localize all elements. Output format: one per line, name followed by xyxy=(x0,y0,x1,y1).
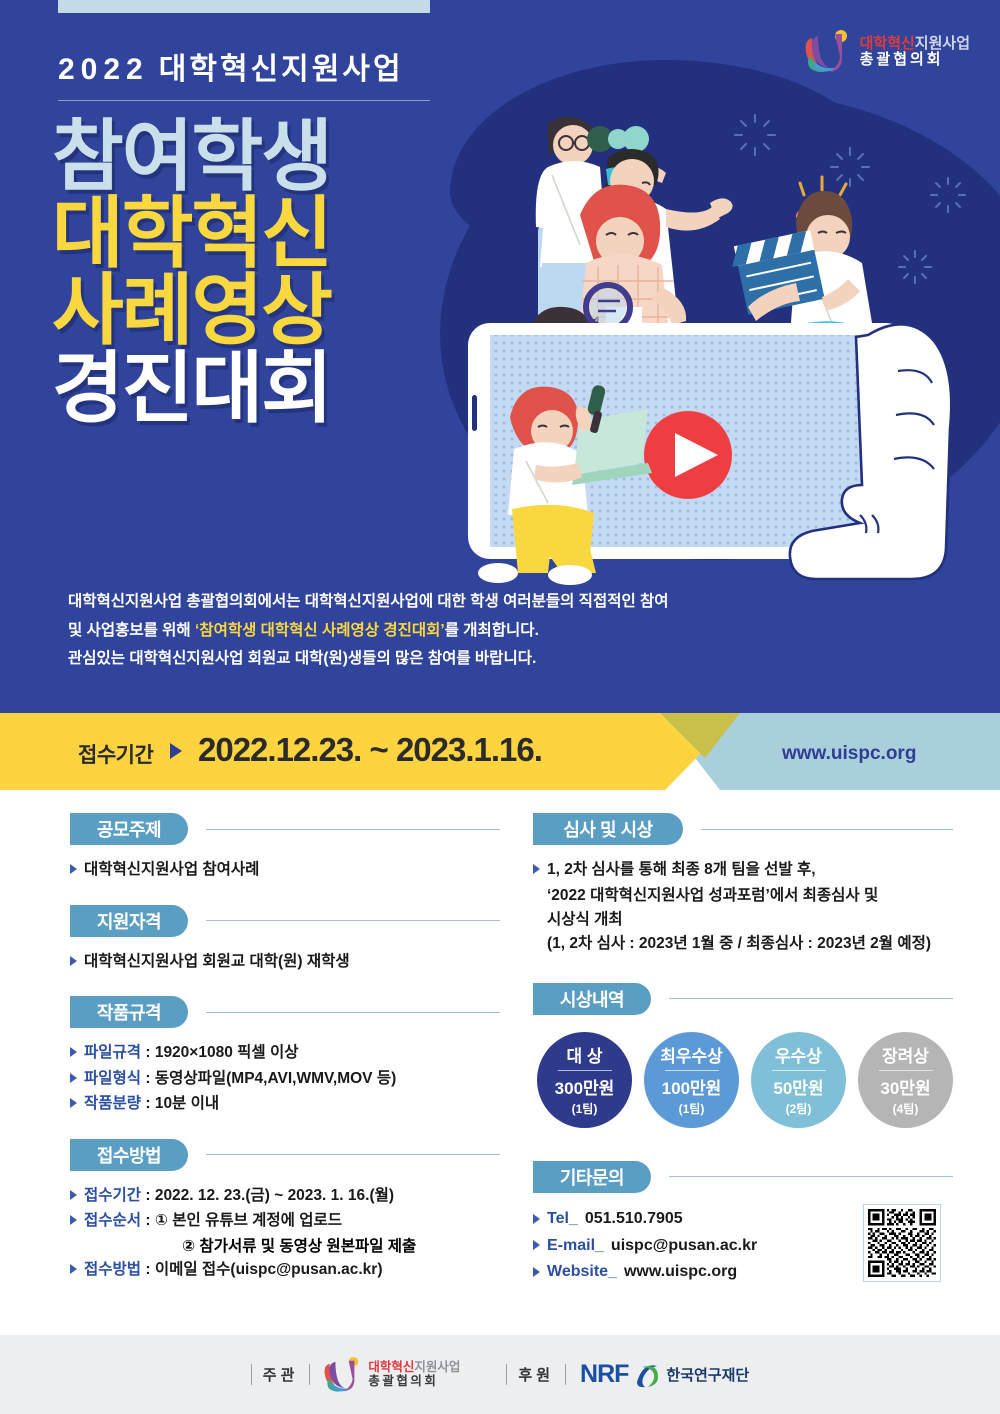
banner-label: 접수기간 xyxy=(78,739,153,769)
section-submission: 접수방법 접수기간 : 2022. 12. 23.(금) ~ 2023. 1. … xyxy=(70,1138,500,1282)
nrf-swoosh-icon xyxy=(634,1362,660,1388)
desc-line-3: 관심있는 대학혁신지원사업 회원교 대학(원)생들의 많은 참여를 바랍니다. xyxy=(68,645,808,674)
hero-section: 대학혁신지원사업 총괄협의회 2022대학혁신지원사업 참여학생 대학혁신 사례… xyxy=(0,0,1000,713)
banner-website-url[interactable]: www.uispc.org xyxy=(782,743,916,765)
section-judging-rule xyxy=(701,829,953,830)
logo-line1-gray: 지원사업 xyxy=(915,35,970,52)
prize-name-1: 최우수상 xyxy=(660,1042,723,1067)
section-spec-rule xyxy=(206,1012,500,1013)
judging-line-4-b: : 2023년 1월 중 / xyxy=(625,935,746,952)
desc-line-2-pre: 및 사업홍보를 위해 xyxy=(68,622,195,639)
prize-teams-2: (2팀) xyxy=(786,1100,812,1117)
footer-sponsor: 후원 NRF 한국연구재단 xyxy=(506,1360,749,1389)
bullet-triangle-icon xyxy=(70,1215,77,1225)
eyebrow-program: 대학혁신지원사업 xyxy=(159,53,404,86)
prize-circle-list: 대 상 300만원 (1팀) 최우수상 100만원 (1팀) 우수상 xyxy=(533,1032,953,1128)
judging-line-4-d: : 2023년 2월 예정) xyxy=(803,935,931,952)
section-spec: 작품규격 파일규격 : 1920×1080 픽셀 이상 파일형식 : 동영상파일… xyxy=(70,995,500,1116)
bullet-triangle-icon xyxy=(70,956,77,966)
contact-key-0: Tel_ xyxy=(547,1206,578,1232)
right-column: 심사 및 시상 1, 2차 심사를 통해 최종 8개 팀을 선발 후, ‘202… xyxy=(533,812,953,1307)
page-title: 참여학생 대학혁신 사례영상 경진대회 xyxy=(52,118,331,427)
judging-line-3: 시상식 개최 xyxy=(533,908,953,932)
spec-value-1: : 동영상파일(MP4,AVI,WMV,MOV 등) xyxy=(141,1070,396,1087)
hero-illustration xyxy=(430,85,1000,605)
prize-circle-excellent: 우수상 50만원 (2팀) xyxy=(751,1032,846,1128)
section-eligibility-rule xyxy=(206,920,500,921)
left-column: 공모주제 대학혁신지원사업 참여사례 지원자격 xyxy=(70,812,500,1304)
uispc-logo-icon xyxy=(804,28,852,76)
qr-code[interactable] xyxy=(863,1204,941,1282)
logo-line2: 총괄협의회 xyxy=(860,52,970,68)
spec-label-1: 파일형식 xyxy=(84,1070,141,1087)
section-contact: 기타문의 Tel_ 051.510.7905 E-mail_ uispc@pus… xyxy=(533,1160,953,1286)
logo-line1-red: 대학혁신 xyxy=(860,35,915,52)
submission-period-value: : 2022. 12. 23.(금) ~ 2023. 1. 16.(월) xyxy=(141,1187,394,1204)
prize-amount-0: 300만원 xyxy=(555,1074,615,1099)
prize-name-3: 장려상 xyxy=(882,1042,929,1067)
nrf-korean-name: 한국연구재단 xyxy=(666,1364,749,1385)
contact-value-1[interactable]: uispc@pusan.ac.kr xyxy=(611,1233,757,1259)
list-item: 대학혁신지원사업 회원교 대학(원) 재학생 xyxy=(70,950,500,974)
bullet-triangle-icon xyxy=(70,1047,77,1057)
submission-order-value2: ② 참가서류 및 동영상 원본파일 제출 xyxy=(70,1235,500,1259)
footer-organizer-logo: 대학혁신지원사업 총괄협의회 xyxy=(324,1356,460,1394)
submission-order-value: : ① 본인 유튜브 계정에 업로드 xyxy=(141,1212,342,1229)
section-prizes-rule xyxy=(669,998,953,999)
footer-sponsor-tag: 후원 xyxy=(506,1364,566,1385)
submission-method-label: 접수방법 xyxy=(84,1261,141,1278)
prize-name-0: 대 상 xyxy=(566,1042,602,1067)
section-contact-rule xyxy=(669,1176,953,1177)
section-contact-tab: 기타문의 xyxy=(533,1161,651,1193)
footer-sponsor-logo: NRF 한국연구재단 xyxy=(580,1360,749,1389)
section-judging-tab: 심사 및 시상 xyxy=(533,813,683,845)
footer: 주관 대학혁신지원사업 총괄협의회 후원 NRF xyxy=(0,1335,1000,1414)
section-submission-rule xyxy=(206,1154,500,1155)
spec-value-2: : 10분 이내 xyxy=(141,1095,219,1112)
prize-rule xyxy=(558,1070,612,1071)
eyebrow-text: 2022대학혁신지원사업 xyxy=(58,44,404,88)
footer-logo-line2: 총괄협의회 xyxy=(368,1375,460,1389)
contact-value-2[interactable]: www.uispc.org xyxy=(624,1259,737,1285)
section-judging-header: 심사 및 시상 xyxy=(533,812,953,846)
header-logo: 대학혁신지원사업 총괄협의회 xyxy=(804,28,970,76)
judging-line-4: (1, 2차 심사 : 2023년 1월 중 / 최종심사 : 2023년 2월… xyxy=(533,932,953,956)
desc-line-1: 대학혁신지원사업 총괄협의회에서는 대학혁신지원사업에 대한 학생 여러분들의 … xyxy=(68,588,808,617)
footer-organizer-tag: 주관 xyxy=(251,1364,311,1385)
section-spec-tab: 작품규격 xyxy=(70,996,188,1028)
poster-root: 대학혁신지원사업 총괄협의회 2022대학혁신지원사업 참여학생 대학혁신 사례… xyxy=(0,0,1000,1414)
judging-line-4-a: (1, 2차 심사 xyxy=(547,935,625,952)
title-line-2: 대학혁신 xyxy=(52,195,331,272)
bullet-triangle-icon xyxy=(70,864,77,874)
desc-line-2-post: 를 개최합니다. xyxy=(445,622,539,639)
bullet-triangle-icon xyxy=(70,1073,77,1083)
section-submission-header: 접수방법 xyxy=(70,1138,500,1172)
list-item: 작품분량 : 10분 이내 xyxy=(70,1092,500,1116)
submission-order-label: 접수순서 xyxy=(84,1212,141,1229)
prize-circle-best: 최우수상 100만원 (1팀) xyxy=(644,1032,739,1128)
list-item: 접수기간 : 2022. 12. 23.(금) ~ 2023. 1. 16.(월… xyxy=(70,1184,500,1208)
bullet-triangle-icon xyxy=(533,1267,540,1277)
bullet-triangle-icon xyxy=(533,864,540,874)
section-eligibility: 지원자격 대학혁신지원사업 회원교 대학(원) 재학생 xyxy=(70,904,500,974)
section-prizes-header: 시상내역 xyxy=(533,982,953,1016)
section-topic-header: 공모주제 xyxy=(70,812,500,846)
section-submission-tab: 접수방법 xyxy=(70,1139,188,1171)
submission-method-value: : 이메일 접수(uispc@pusan.ac.kr) xyxy=(141,1261,382,1278)
footer-logo-line1-red: 대학혁신 xyxy=(368,1360,414,1374)
bullet-triangle-icon xyxy=(533,1240,540,1250)
section-judging-items: 1, 2차 심사를 통해 최종 8개 팀을 선발 후, ‘2022 대학혁신지원… xyxy=(533,858,953,956)
prize-name-2: 우수상 xyxy=(775,1042,822,1067)
title-line-3: 사례영상 xyxy=(52,272,331,349)
list-item: 접수순서 : ① 본인 유튜브 계정에 업로드 xyxy=(70,1209,500,1233)
section-contact-header: 기타문의 xyxy=(533,1160,953,1194)
submission-period-label: 접수기간 xyxy=(84,1187,141,1204)
list-item: 파일규격 : 1920×1080 픽셀 이상 xyxy=(70,1041,500,1065)
section-eligibility-items: 대학혁신지원사업 회원교 대학(원) 재학생 xyxy=(70,950,500,974)
contact-value-0: 051.510.7905 xyxy=(585,1206,683,1232)
contact-key-1: E-mail_ xyxy=(547,1233,604,1259)
section-topic: 공모주제 대학혁신지원사업 참여사례 xyxy=(70,812,500,882)
judging-line-2: ‘2022 대학혁신지원사업 성과포럼’에서 최종심사 및 xyxy=(533,884,953,908)
list-item: 파일형식 : 동영상파일(MP4,AVI,WMV,MOV 등) xyxy=(70,1067,500,1091)
desc-line-2-highlight: ‘참여학생 대학혁신 사례영상 경진대회’ xyxy=(195,622,445,639)
application-period-banner: 접수기간 2022.12.23. ~ 2023.1.16. www.uispc.… xyxy=(0,713,1000,790)
contact-key-2: Website_ xyxy=(547,1259,617,1285)
section-prizes-tab: 시상내역 xyxy=(533,983,651,1015)
hero-description: 대학혁신지원사업 총괄협의회에서는 대학혁신지원사업에 대한 학생 여러분들의 … xyxy=(68,588,808,674)
section-submission-items: 접수기간 : 2022. 12. 23.(금) ~ 2023. 1. 16.(월… xyxy=(70,1184,500,1282)
prize-amount-2: 50만원 xyxy=(773,1074,823,1099)
spec-value-0: : 1920×1080 픽셀 이상 xyxy=(141,1044,298,1061)
banner-date-range: 2022.12.23. ~ 2023.1.16. xyxy=(198,731,542,769)
prize-rule xyxy=(772,1070,826,1071)
nrf-wordmark: NRF xyxy=(580,1360,628,1389)
prize-amount-1: 100만원 xyxy=(662,1074,722,1099)
title-line-1: 참여학생 xyxy=(52,118,331,195)
eligibility-item-0: 대학혁신지원사업 회원교 대학(원) 재학생 xyxy=(84,950,350,974)
eyebrow-year: 2022 xyxy=(58,53,149,86)
bullet-triangle-icon xyxy=(70,1098,77,1108)
prize-teams-3: (4팀) xyxy=(893,1100,919,1117)
prize-circle-grand: 대 상 300만원 (1팀) xyxy=(537,1032,632,1128)
prize-rule xyxy=(665,1070,719,1071)
section-judging: 심사 및 시상 1, 2차 심사를 통해 최종 8개 팀을 선발 후, ‘202… xyxy=(533,812,953,956)
bullet-triangle-icon xyxy=(533,1214,540,1224)
section-topic-items: 대학혁신지원사업 참여사례 xyxy=(70,858,500,882)
prize-rule xyxy=(879,1070,933,1071)
footer-organizer: 주관 대학혁신지원사업 총괄협의회 xyxy=(251,1356,461,1394)
prize-teams-1: (1팀) xyxy=(679,1100,705,1117)
section-spec-header: 작품규격 xyxy=(70,995,500,1029)
footer-logo-line1-gray: 지원사업 xyxy=(414,1360,460,1374)
bullet-triangle-icon xyxy=(70,1190,77,1200)
judging-line-1: 1, 2차 심사를 통해 최종 8개 팀을 선발 후, xyxy=(547,858,816,882)
section-spec-items: 파일규격 : 1920×1080 픽셀 이상 파일형식 : 동영상파일(MP4,… xyxy=(70,1041,500,1116)
desc-line-2: 및 사업홍보를 위해 ‘참여학생 대학혁신 사례영상 경진대회’를 개최합니다. xyxy=(68,617,808,646)
top-accent-bar xyxy=(58,0,430,13)
topic-item-0: 대학혁신지원사업 참여사례 xyxy=(84,861,259,878)
section-eligibility-tab: 지원자격 xyxy=(70,905,188,937)
spec-label-0: 파일규격 xyxy=(84,1044,141,1061)
prize-teams-0: (1팀) xyxy=(572,1100,598,1117)
bullet-triangle-icon xyxy=(70,1264,77,1274)
banner-arrow-icon xyxy=(170,743,182,759)
spec-label-2: 작품분량 xyxy=(84,1095,141,1112)
list-item: 대학혁신지원사업 참여사례 xyxy=(70,858,500,882)
prize-circle-encouragement: 장려상 30만원 (4팀) xyxy=(858,1032,953,1128)
judging-line-4-c: 최종심사 xyxy=(746,935,803,952)
header-divider xyxy=(58,100,430,101)
uispc-logo-icon xyxy=(324,1356,362,1394)
prize-amount-3: 30만원 xyxy=(880,1074,930,1099)
section-prizes: 시상내역 대 상 300만원 (1팀) 최우수상 100만원 (1팀) xyxy=(533,982,953,1128)
section-eligibility-header: 지원자격 xyxy=(70,904,500,938)
section-topic-tab: 공모주제 xyxy=(70,813,188,845)
list-item: 접수방법 : 이메일 접수(uispc@pusan.ac.kr) xyxy=(70,1258,500,1282)
content-section: 공모주제 대학혁신지원사업 참여사례 지원자격 xyxy=(0,790,1000,1335)
list-item: 1, 2차 심사를 통해 최종 8개 팀을 선발 후, xyxy=(533,858,953,882)
section-topic-rule xyxy=(206,829,500,830)
title-line-4: 경진대회 xyxy=(52,350,331,427)
